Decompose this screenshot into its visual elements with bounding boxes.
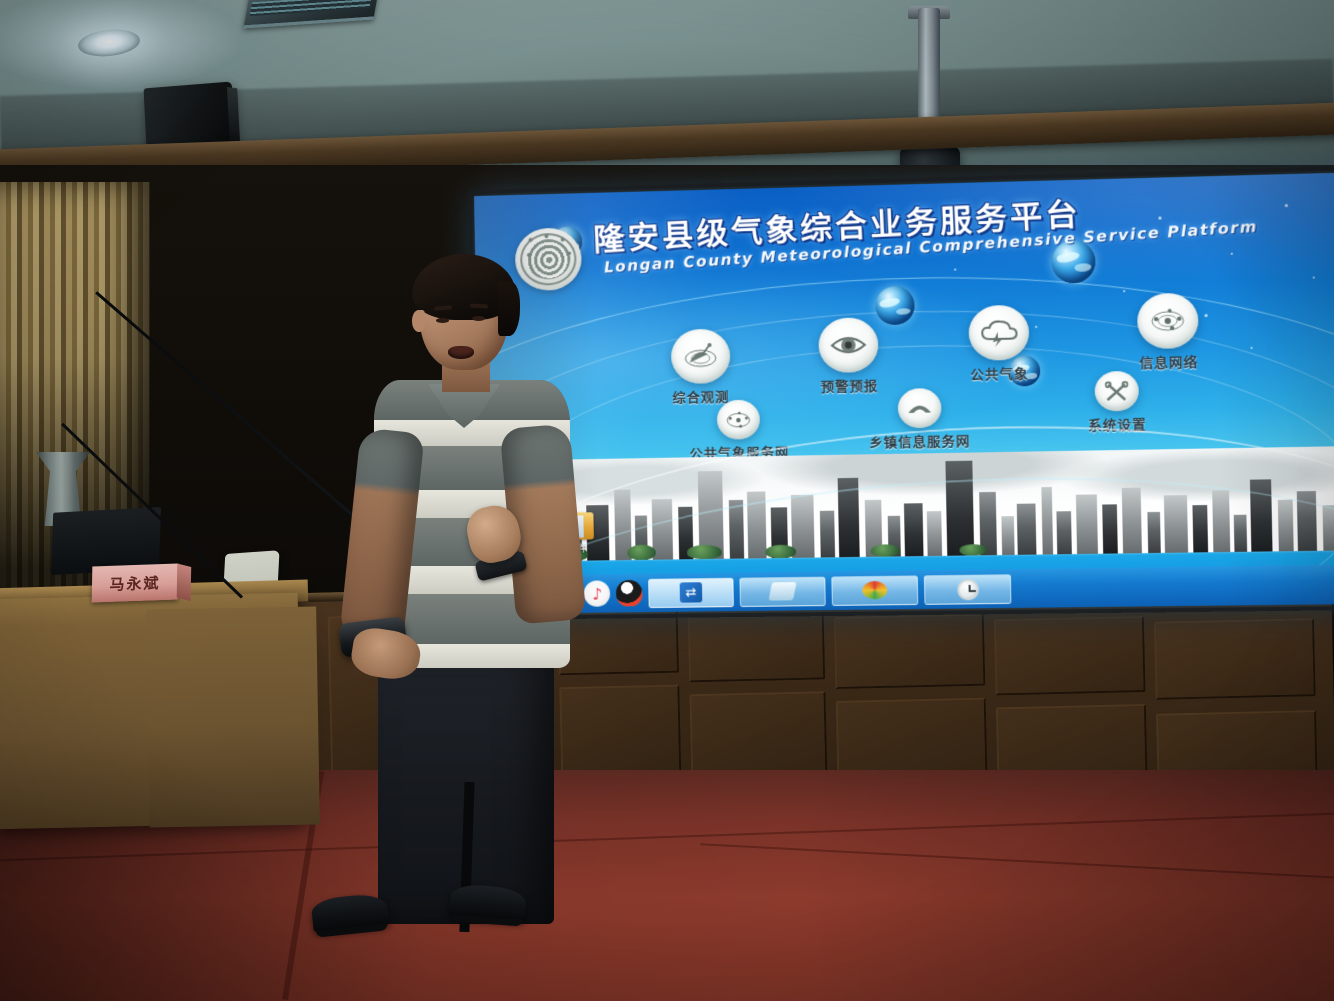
ceiling-downlight	[77, 27, 141, 59]
qq-penguin-icon[interactable]	[616, 580, 643, 606]
eye-icon	[818, 317, 879, 373]
nav-item-warning-forecast[interactable]: 预警预报	[788, 316, 911, 396]
network-small-icon	[717, 400, 761, 440]
presenter-legs	[378, 652, 554, 924]
presenter	[316, 248, 616, 948]
media-window[interactable]	[831, 575, 918, 606]
teamviewer-icon: ⇄	[680, 582, 703, 602]
ceiling-air-vent	[243, 0, 380, 28]
wall-panel	[688, 611, 826, 682]
disc-icon	[862, 581, 887, 600]
presenter-hair	[412, 254, 516, 320]
wall-panel	[834, 614, 986, 689]
nav-item-public-meteorology[interactable]: 公共气象	[937, 304, 1061, 384]
conference-room-scene: 隆安县级气象综合业务服务平台 Longan County Meteorologi…	[0, 0, 1334, 1001]
presenter-shoe-left	[310, 892, 389, 934]
clock-icon	[957, 578, 979, 600]
nav-label: 信息网络	[1107, 350, 1231, 372]
explorer-window[interactable]	[739, 576, 825, 607]
radar-dish-icon	[670, 328, 730, 384]
teamviewer-window[interactable]: ⇄	[648, 577, 734, 608]
presenter-ear	[412, 310, 425, 332]
nav-item-information-network[interactable]: 信息网络	[1106, 292, 1231, 373]
home-icon	[897, 388, 941, 428]
wall-panel	[1154, 618, 1316, 700]
nav-item-system-settings[interactable]: 系统设置	[1054, 370, 1181, 435]
presenter-mouth	[448, 346, 474, 359]
nameplate: 马永斌	[92, 563, 179, 602]
wooden-podium-side	[146, 607, 320, 828]
presenter-eye	[436, 318, 449, 323]
presenter-brow	[470, 304, 488, 309]
cloud-lightning-icon	[968, 305, 1029, 361]
wall-panel	[994, 616, 1146, 695]
folder-window-icon	[769, 582, 797, 601]
nameplate-text: 马永斌	[109, 572, 160, 595]
clock-window[interactable]	[924, 574, 1012, 605]
tools-icon	[1094, 371, 1139, 412]
presenter-eye	[472, 316, 485, 321]
nav-label: 公共气象	[938, 362, 1061, 384]
nav-item-comprehensive-observation[interactable]: 综合观测	[640, 328, 761, 407]
network-nodes-icon	[1137, 292, 1199, 349]
